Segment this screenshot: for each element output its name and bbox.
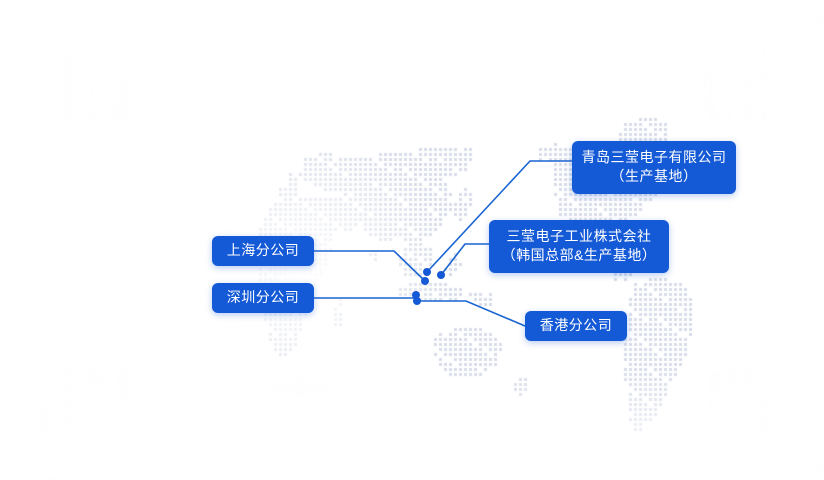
label-qingdao-line1: 青岛三莹电子有限公司 [582,148,727,167]
label-shanghai-branch[interactable]: 上海分公司 [212,236,314,266]
label-korea-headquarters[interactable]: 三莹电子工业株式会社 （韩国总部&生产基地） [489,220,669,273]
world-map-branch-diagram: 青岛三莹电子有限公司 （生产基地） 三莹电子工业株式会社 （韩国总部&生产基地）… [0,0,824,480]
label-shenzhen-branch[interactable]: 深圳分公司 [212,283,314,313]
connector-layer [0,0,824,480]
label-hongkong-branch[interactable]: 香港分公司 [525,311,627,341]
label-hongkong-line1: 香港分公司 [540,316,613,335]
shanghai-connector [314,251,425,281]
label-korea-line1: 三莹电子工业株式会社 [507,227,652,246]
shanghai-marker[interactable] [421,277,429,285]
hongkong-connector [417,301,525,326]
hongkong-marker[interactable] [413,297,421,305]
label-qingdao-factory[interactable]: 青岛三莹电子有限公司 （生产基地） [572,141,736,194]
label-shanghai-line1: 上海分公司 [227,241,300,260]
label-korea-line2: （韩国总部&生产基地） [502,246,657,265]
qingdao-marker[interactable] [423,268,431,276]
label-shenzhen-line1: 深圳分公司 [227,288,300,307]
label-qingdao-line2: （生产基地） [611,167,698,186]
korea-marker[interactable] [437,271,445,279]
